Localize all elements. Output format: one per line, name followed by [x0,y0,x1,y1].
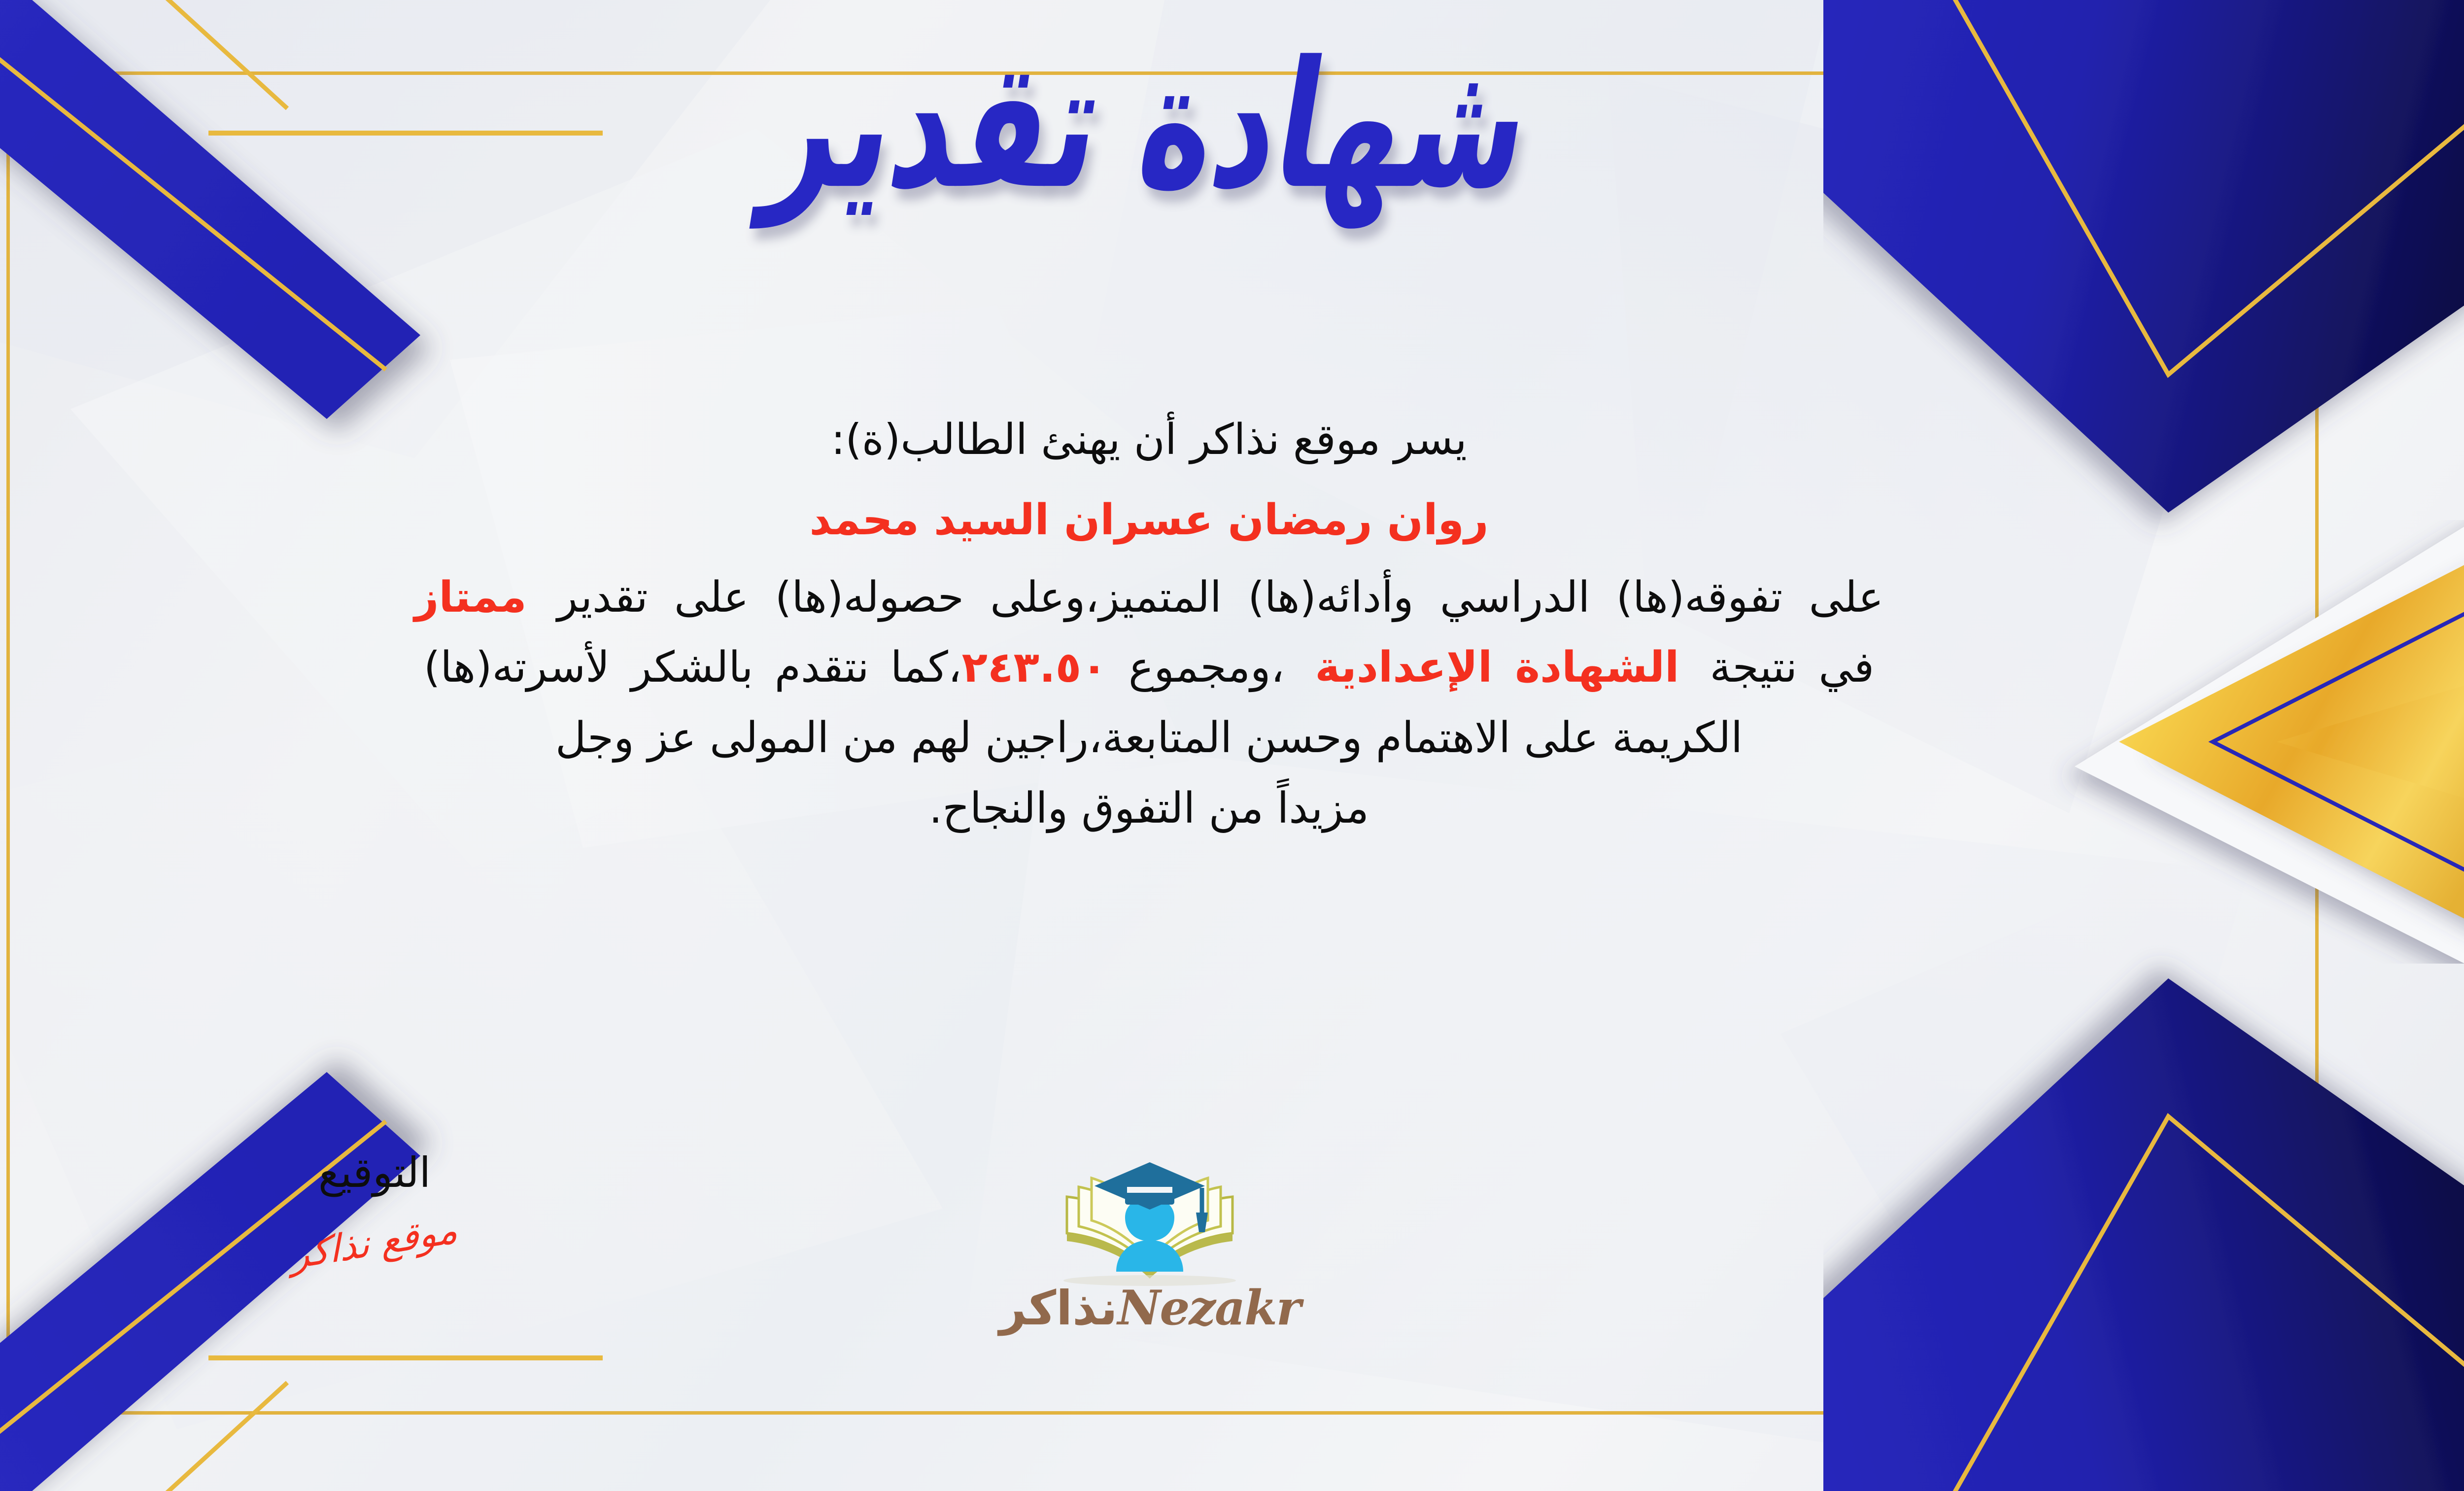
page-title: شهادة تقدير [757,38,1541,213]
graduate-book-icon [1046,1124,1253,1286]
grade-value: ممتاز [414,573,527,622]
intro-line: يسر موقع نذاكر أن يهنئ الطالب(ة): [0,409,2316,471]
exam-prefix: في نتيجة [1710,643,1875,692]
exam-name: الشهادة الإعدادية [1315,643,1679,692]
thanks-text: ،كما نتقدم بالشكر لأسرته(ها) [424,643,962,692]
signature-block: التوقيع موقع نذاكر [187,1148,562,1264]
achievement-text: على تفوقه(ها) الدراسي وأدائه(ها) المتميز… [557,573,1884,622]
logo-text: Nezakrنذاكر [953,1284,1347,1332]
certificate-page: شهادة تقدير يسر موقع نذاكر أن يهنئ الطال… [0,0,2464,1491]
student-name: روان رمضان عسران السيد محمد [0,488,2316,552]
closing-line: مزيداً من التفوق والنجاح. [0,778,2316,839]
logo-text-english: Nezakr [1118,1280,1300,1336]
signature-label: التوقيع [187,1148,562,1197]
brand-logo: Nezakrنذاكر [953,1124,1347,1332]
family-line: الكريمة على الاهتمام وحسن المتابعة،راجين… [0,707,2316,769]
achievement-line: على تفوقه(ها) الدراسي وأدائه(ها) المتميز… [0,567,2316,628]
certificate-title-wrapper: شهادة تقدير [0,64,2464,187]
total-score: ٢٤٣.٥٠ [962,643,1107,692]
certificate-body: يسر موقع نذاكر أن يهنئ الطالب(ة): روان ر… [0,409,2316,848]
total-label: ،ومجموع [1129,643,1284,692]
logo-text-arabic: نذاكر [999,1281,1118,1336]
exam-line: في نتيجةالشهادة الإعدادية،ومجموع ٢٤٣.٥٠،… [0,637,2316,698]
